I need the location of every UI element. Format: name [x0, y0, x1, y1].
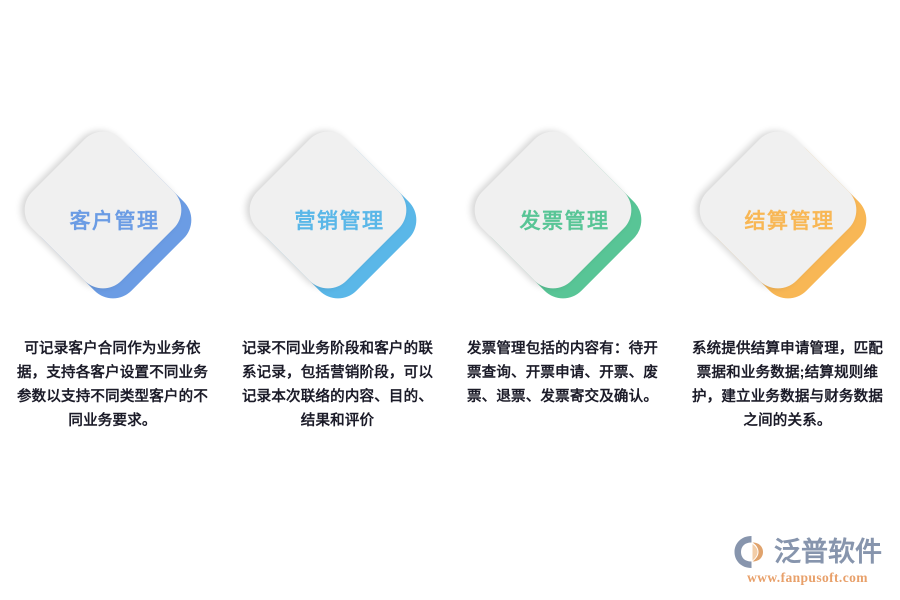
diamond-badge-label: 结算管理 [693, 125, 883, 315]
feature-card-row: 客户管理 可记录客户合同作为业务依据，支持各客户设置不同业务参数以支持不同类型客… [0, 0, 900, 470]
diamond-badge-marketing-management[interactable]: 营销管理 [243, 125, 433, 315]
brand-logo[interactable]: 泛普软件 www.fanpusoft.com [733, 535, 882, 586]
brand-logo-row: 泛普软件 [733, 535, 882, 569]
feature-card: 结算管理 系统提供结算申请管理，匹配票据和业务数据;结算规则维护，建立业务数据与… [675, 0, 900, 433]
infographic-canvas: 客户管理 可记录客户合同作为业务依据，支持各客户设置不同业务参数以支持不同类型客… [0, 0, 900, 600]
diamond-badge-settlement-management[interactable]: 结算管理 [693, 125, 883, 315]
diamond-badge-label: 客户管理 [18, 125, 208, 315]
feature-card: 客户管理 可记录客户合同作为业务依据，支持各客户设置不同业务参数以支持不同类型客… [0, 0, 225, 433]
diamond-badge-customer-management[interactable]: 客户管理 [18, 125, 208, 315]
feature-description: 记录不同业务阶段和客户的联系记录，包括营销阶段，可以记录本次联络的内容、目的、结… [235, 337, 440, 433]
feature-card: 发票管理 发票管理包括的内容有：待开票查询、开票申请、开票、废票、退票、发票寄交… [450, 0, 675, 409]
feature-description: 系统提供结算申请管理，匹配票据和业务数据;结算规则维护，建立业务数据与财务数据之… [685, 337, 890, 433]
diamond-badge-label: 发票管理 [468, 125, 658, 315]
diamond-badge-label: 营销管理 [243, 125, 433, 315]
feature-description: 发票管理包括的内容有：待开票查询、开票申请、开票、废票、退票、发票寄交及确认。 [460, 337, 665, 409]
diamond-badge-invoice-management[interactable]: 发票管理 [468, 125, 658, 315]
brand-name: 泛普软件 [774, 537, 882, 567]
fanpu-logo-icon [733, 535, 769, 569]
feature-card: 营销管理 记录不同业务阶段和客户的联系记录，包括营销阶段，可以记录本次联络的内容… [225, 0, 450, 433]
feature-description: 可记录客户合同作为业务依据，支持各客户设置不同业务参数以支持不同类型客户的不同业… [10, 337, 215, 433]
brand-url: www.fanpusoft.com [747, 570, 868, 586]
